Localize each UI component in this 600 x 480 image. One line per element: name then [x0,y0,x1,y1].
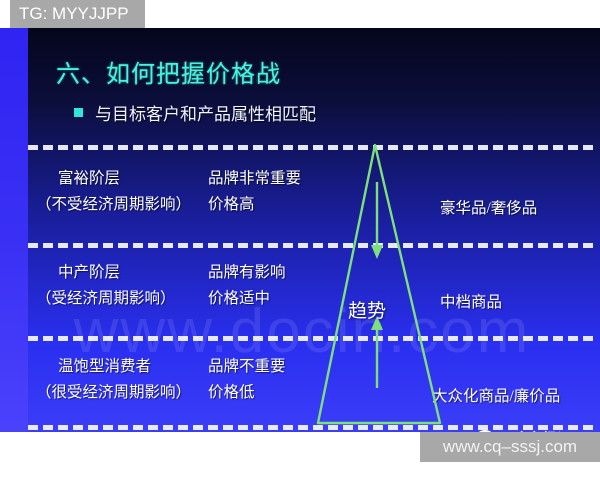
segment-cell-row3: 温饱型消费者 （很受经济周期影响） [36,354,191,406]
slide-title: 六、如何把握价格战 [56,54,281,89]
divider-line-1 [28,243,593,248]
attribute-brand-row3: 品牌不重要 [208,358,286,375]
slide-bullet-text: 与目标客户和产品属性相匹配 [95,100,316,125]
attribute-cell-row2: 品牌有影响 价格适中 [208,260,286,312]
segment-note-row2: （受经济周期影响） [36,286,176,312]
segment-note-row3: （很受经济周期影响） [36,380,191,406]
attribute-price-row3: 价格低 [208,380,286,406]
product-cell-row3: 大众化商品/廉价品 [432,384,560,410]
site-url-watermark: www.cq–sssj.com [420,432,600,462]
trend-label: 趋势 [348,296,386,323]
telegram-watermark: TG: MYYJJPP [10,0,145,28]
presentation-slide: www.docin.com 六、如何把握价格战 与目标客户和产品属性相匹配 富裕… [0,28,600,432]
square-bullet-icon [74,108,83,117]
pyramid-triangle-shape [318,145,440,423]
attribute-brand-row1: 品牌非常重要 [208,170,301,187]
segment-name-row3: 温饱型消费者 [36,354,191,380]
segment-name-row2: 中产阶层 [36,260,176,286]
product-cell-row2: 中档商品 [440,290,502,316]
attribute-cell-row3: 品牌不重要 价格低 [208,354,286,406]
segment-cell-row2: 中产阶层 （受经济周期影响） [36,260,176,312]
attribute-price-row1: 价格高 [208,192,301,218]
segment-name-row1: 富裕阶层 [36,166,191,192]
attribute-cell-row1: 品牌非常重要 价格高 [208,166,301,218]
attribute-brand-row2: 品牌有影响 [208,264,286,281]
attribute-price-row2: 价格适中 [208,286,286,312]
slide-left-accent-band [0,28,28,432]
divider-line-2 [28,336,593,341]
product-cell-row1: 豪华品/奢侈品 [440,196,537,222]
segment-note-row1: （不受经济周期影响） [36,192,191,218]
slide-bullet-row: 与目标客户和产品属性相匹配 [74,100,316,125]
segment-cell-row1: 富裕阶层 （不受经济周期影响） [36,166,191,218]
divider-line-top [28,145,593,150]
